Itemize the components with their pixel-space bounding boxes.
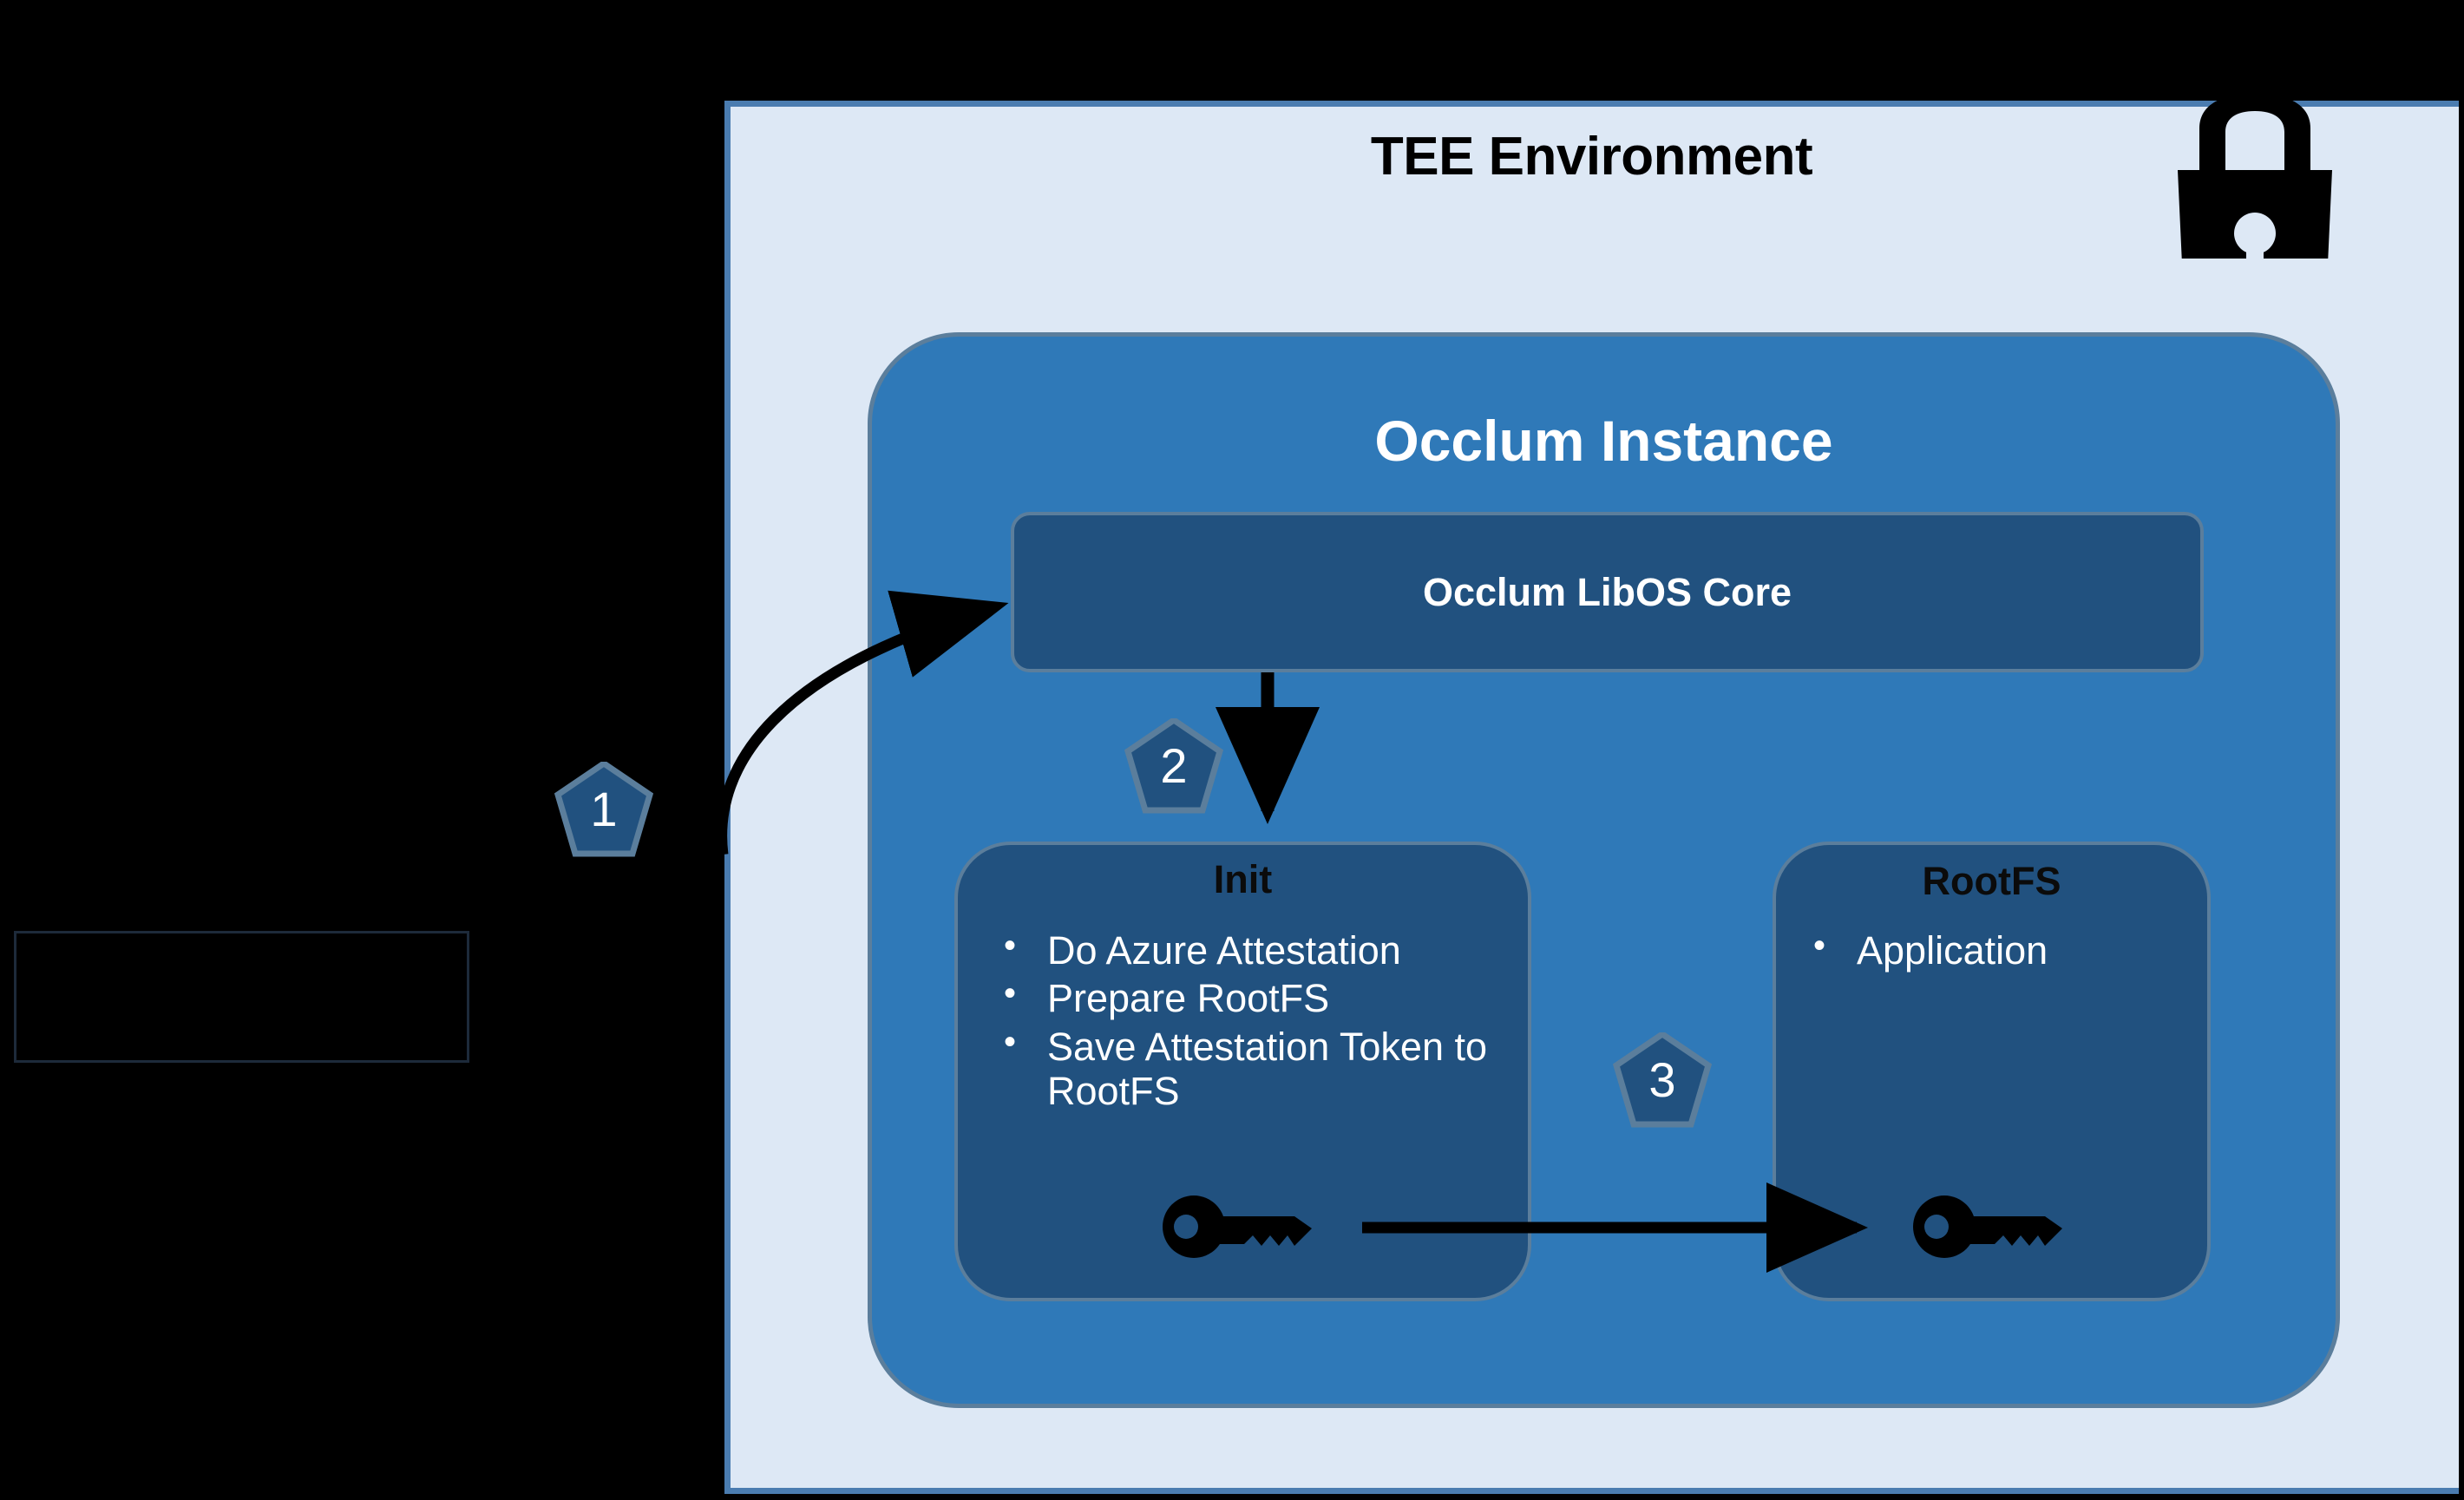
occlum-libos-core-box: Occlum LibOS Core xyxy=(1011,512,2204,672)
list-item: Do Azure Attestation xyxy=(993,928,1514,973)
step-badge-3: 3 xyxy=(1609,1032,1715,1130)
left-placeholder-rectangle xyxy=(14,931,469,1063)
list-item: Application xyxy=(1803,928,2202,973)
rootfs-bullet-list: Application xyxy=(1803,928,2202,973)
step-badge-2-label: 2 xyxy=(1121,718,1227,816)
step-badge-1-label: 1 xyxy=(551,762,657,859)
init-title: Init xyxy=(954,857,1531,902)
step-badge-2: 2 xyxy=(1121,718,1227,816)
key-icon xyxy=(1163,1195,1319,1258)
key-icon xyxy=(1913,1195,2069,1258)
occlum-libos-core-label: Occlum LibOS Core xyxy=(1423,570,1792,615)
padlock-icon xyxy=(2164,94,2346,259)
occlum-instance-title: Occlum Instance xyxy=(868,408,2340,474)
list-item: Prepare RootFS xyxy=(993,976,1514,1020)
diagram-canvas: TEE Environment Occlum Instance Occlum L… xyxy=(0,0,2464,1500)
rootfs-title: RootFS xyxy=(1773,859,2211,904)
step-badge-1: 1 xyxy=(551,762,657,859)
list-item: Save Attestation Token to RootFS xyxy=(993,1025,1514,1114)
init-bullet-list: Do Azure Attestation Prepare RootFS Save… xyxy=(993,928,1514,1117)
step-badge-3-label: 3 xyxy=(1609,1032,1715,1130)
